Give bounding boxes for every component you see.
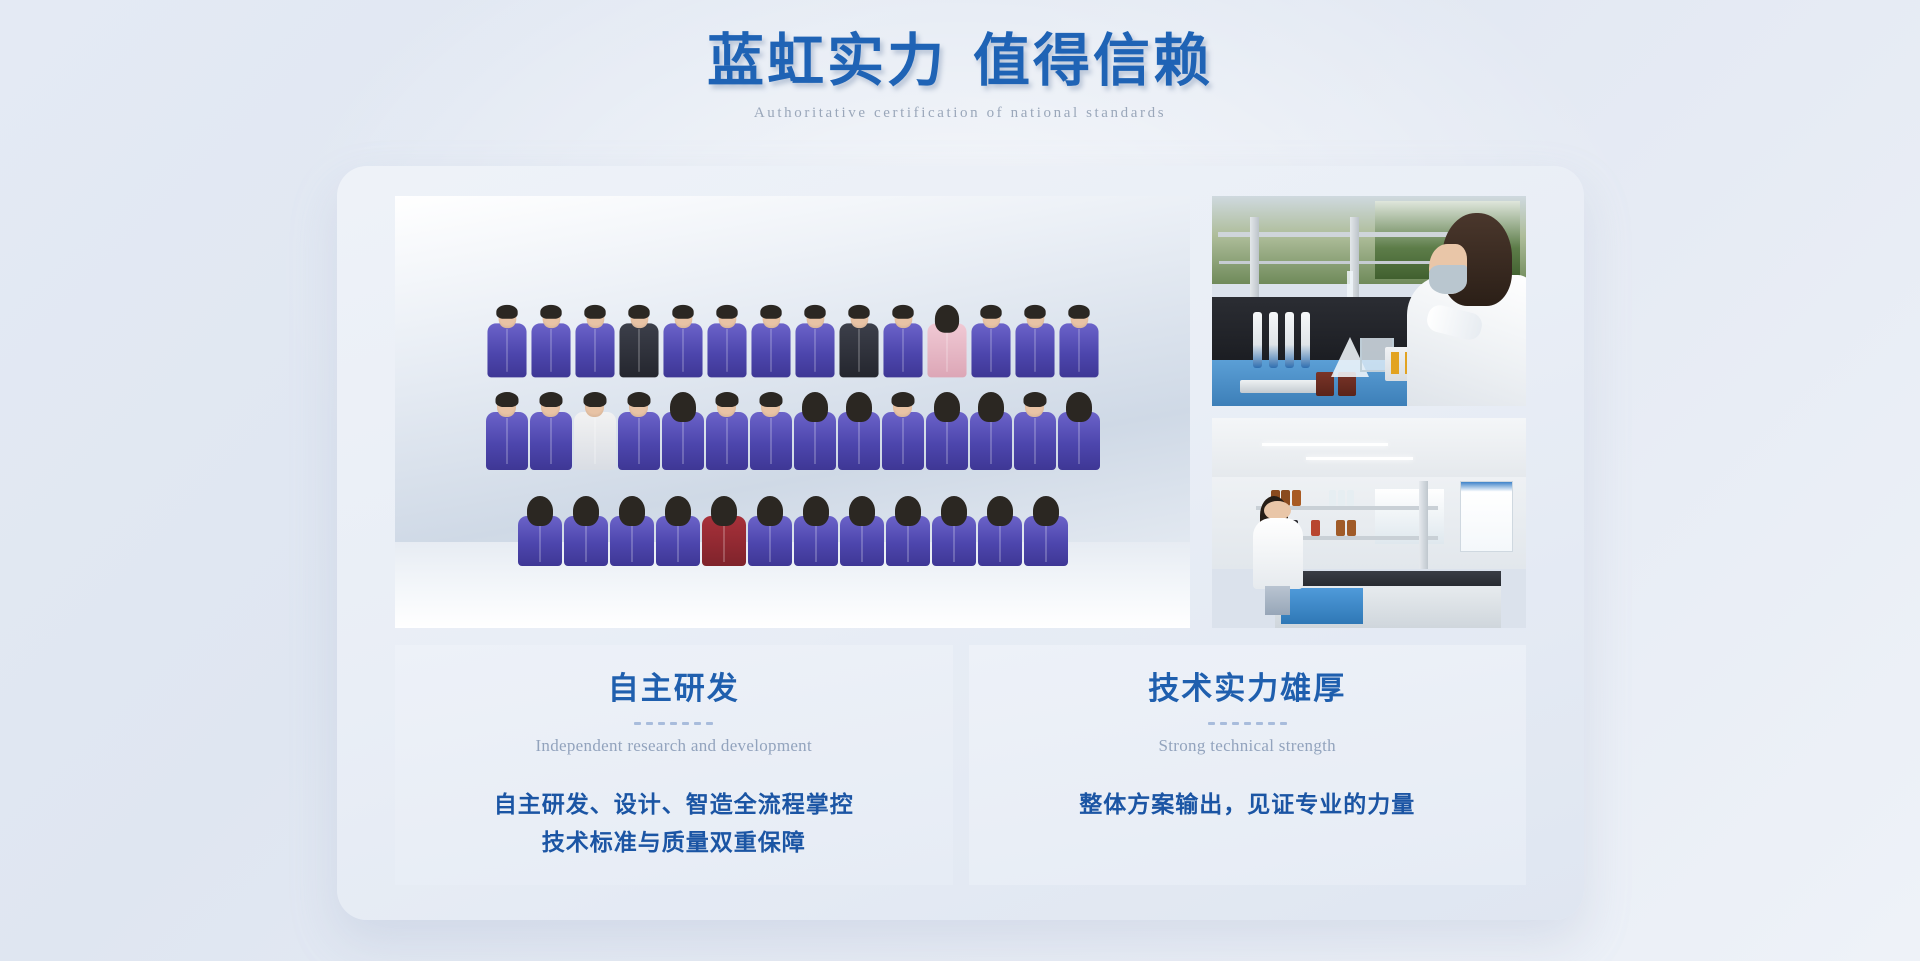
person bbox=[794, 395, 836, 470]
person bbox=[970, 395, 1012, 470]
person bbox=[927, 308, 966, 378]
page-header: 蓝虹实力值得信赖 Authoritative certification of … bbox=[0, 28, 1920, 122]
technician-legs bbox=[1265, 586, 1290, 615]
team-row-middle bbox=[399, 395, 1186, 470]
lab-room-photo[interactable] bbox=[1212, 418, 1526, 628]
person bbox=[882, 395, 924, 470]
feature-cards: 自主研发 Independent research and developmen… bbox=[395, 645, 1526, 885]
person bbox=[702, 499, 746, 566]
person bbox=[1015, 308, 1054, 378]
person bbox=[575, 308, 614, 378]
person bbox=[926, 395, 968, 470]
person bbox=[794, 499, 838, 566]
person bbox=[886, 499, 930, 566]
page-stage: 蓝虹实力值得信赖 Authoritative certification of … bbox=[0, 0, 1920, 961]
card-title: 技术实力雄厚 bbox=[969, 669, 1527, 709]
team-rows bbox=[399, 266, 1186, 566]
person bbox=[1059, 308, 1098, 378]
page-subtitle: Authoritative certification of national … bbox=[0, 105, 1920, 122]
person bbox=[883, 308, 922, 378]
person bbox=[663, 308, 702, 378]
card-description-line1: 整体方案输出，见证专业的力量 bbox=[969, 786, 1527, 823]
person bbox=[531, 308, 570, 378]
person bbox=[656, 499, 700, 566]
dot-divider bbox=[395, 722, 953, 725]
person bbox=[487, 308, 526, 378]
face-mask bbox=[1429, 265, 1467, 294]
person bbox=[971, 308, 1010, 378]
card-subtitle-en: Strong technical strength bbox=[969, 736, 1527, 756]
person bbox=[486, 395, 528, 470]
person bbox=[618, 395, 660, 470]
person bbox=[839, 308, 878, 378]
person bbox=[750, 395, 792, 470]
page-title-part2: 值得信赖 bbox=[973, 30, 1213, 93]
side-photo-column bbox=[1212, 196, 1526, 628]
lab-bench-photo[interactable] bbox=[1212, 196, 1526, 406]
person bbox=[838, 395, 880, 470]
team-row-front bbox=[399, 499, 1186, 566]
person bbox=[610, 499, 654, 566]
person bbox=[518, 499, 562, 566]
wall-poster bbox=[1460, 481, 1513, 552]
person bbox=[1058, 395, 1100, 470]
person bbox=[1014, 395, 1056, 470]
card-subtitle-en: Independent research and development bbox=[395, 736, 953, 756]
page-title: 蓝虹实力值得信赖 bbox=[0, 28, 1920, 95]
card-description-line2: 技术标准与质量双重保障 bbox=[395, 824, 953, 861]
person bbox=[978, 499, 1022, 566]
feature-card-rnd[interactable]: 自主研发 Independent research and developmen… bbox=[395, 645, 953, 885]
lab-technician bbox=[1407, 213, 1526, 406]
card-title: 自主研发 bbox=[395, 669, 953, 709]
page-title-part1: 蓝虹实力 bbox=[707, 30, 947, 93]
card-description-line1: 自主研发、设计、智造全流程掌控 bbox=[395, 786, 953, 823]
card-description: 整体方案输出，见证专业的力量 bbox=[969, 786, 1527, 823]
team-photo[interactable] bbox=[395, 196, 1190, 628]
person bbox=[932, 499, 976, 566]
lab-coat bbox=[1253, 518, 1303, 589]
person bbox=[795, 308, 834, 378]
person bbox=[619, 308, 658, 378]
person bbox=[706, 395, 748, 470]
person bbox=[751, 308, 790, 378]
dot-divider bbox=[969, 722, 1527, 725]
fume-hood-post bbox=[1419, 481, 1428, 569]
lab-technician bbox=[1253, 494, 1303, 616]
person bbox=[748, 499, 792, 566]
person bbox=[707, 308, 746, 378]
person bbox=[662, 395, 704, 470]
person bbox=[840, 499, 884, 566]
lab-ceiling bbox=[1212, 418, 1526, 481]
photo-grid bbox=[395, 196, 1526, 628]
team-row-back bbox=[399, 305, 1186, 380]
feature-card-technical[interactable]: 技术实力雄厚 Strong technical strength 整体方案输出，… bbox=[969, 645, 1527, 885]
pipette-set bbox=[1253, 306, 1325, 368]
person bbox=[1024, 499, 1068, 566]
content-panel: 自主研发 Independent research and developmen… bbox=[337, 166, 1584, 920]
person bbox=[564, 499, 608, 566]
card-description: 自主研发、设计、智造全流程掌控 技术标准与质量双重保障 bbox=[395, 786, 953, 861]
person bbox=[530, 395, 572, 470]
person bbox=[574, 395, 616, 470]
